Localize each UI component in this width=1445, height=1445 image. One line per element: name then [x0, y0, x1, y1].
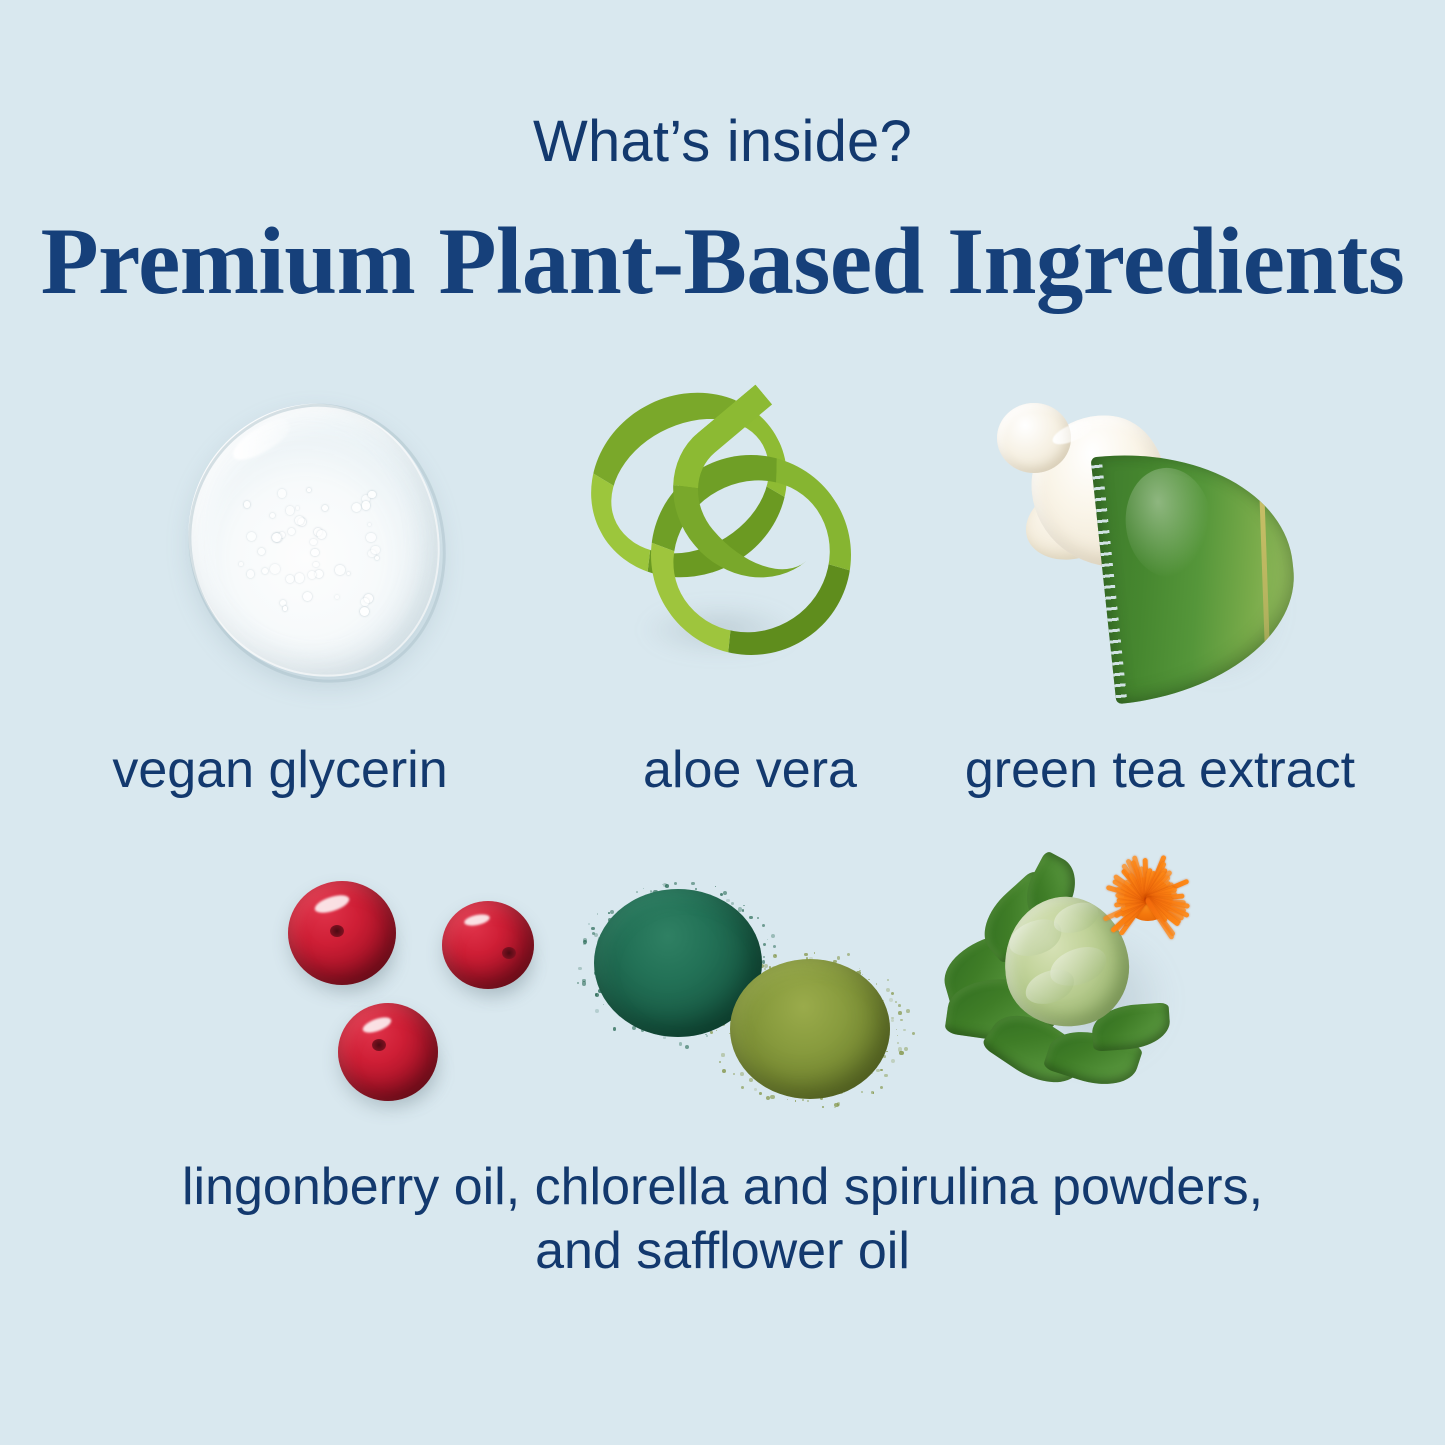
gel-bubbles [239, 488, 389, 618]
ingredients-infographic: What’s inside? Premium Plant-Based Ingre… [0, 0, 1445, 1445]
bottom-caption: lingonberry oil, chlorella and spirulina… [60, 1155, 1385, 1283]
row1-labels: vegan glycerin aloe vera green tea extra… [0, 740, 1445, 810]
label-green-tea-extract: green tea extract [880, 740, 1440, 800]
tea-leaf-serration [1091, 456, 1128, 704]
safflower-floret [1096, 849, 1196, 941]
chlorella-spirulina-powder-art [580, 885, 910, 1115]
tea-leaf-gloss [1120, 464, 1217, 582]
page-title: Premium Plant-Based Ingredients [0, 206, 1445, 316]
berry-bottom [338, 1003, 438, 1101]
berry-large [288, 881, 396, 985]
safflower-art [940, 845, 1220, 1130]
aloe-vera-art [585, 385, 875, 695]
caption-line-2: and safflower oil [60, 1219, 1385, 1283]
caption-line-1: lingonberry oil, chlorella and spirulina… [60, 1155, 1385, 1219]
eyebrow-text: What’s inside? [0, 108, 1445, 175]
green-tea-extract-art [985, 395, 1315, 705]
vegan-glycerin-art [183, 398, 445, 698]
lingonberry-art [280, 875, 550, 1115]
chlorella-powder-mound [730, 959, 890, 1099]
berry-small-right [442, 901, 534, 989]
